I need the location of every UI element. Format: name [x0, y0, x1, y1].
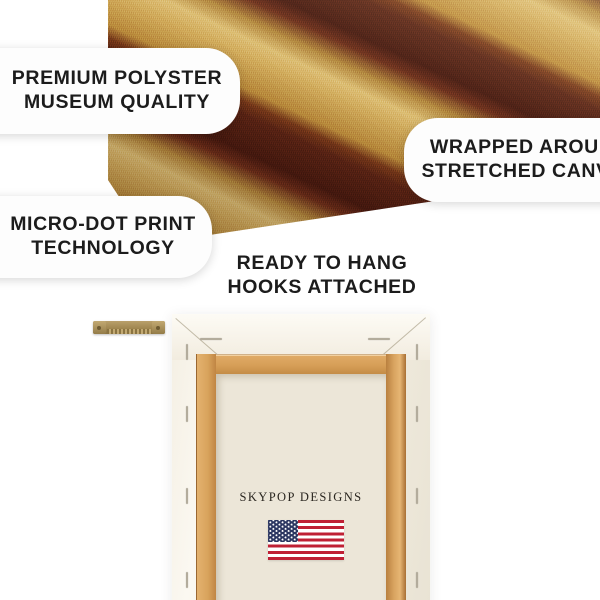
canvas-back-panel: SKYPOP DESIGNS: [172, 314, 430, 600]
feature-pill-wrapped-around-line1: WRAPPED AROUND: [430, 136, 600, 160]
feature-label-ready-to-hang-line1: READY TO HANG: [222, 252, 422, 276]
canvas-inner-backing: [216, 374, 386, 600]
staple-icon: [416, 344, 418, 360]
hanger-teeth: [107, 329, 151, 334]
us-flag-icon: [268, 520, 344, 560]
staple-icon: [416, 406, 418, 422]
feature-label-ready-to-hang: READY TO HANG HOOKS ATTACHED: [222, 252, 422, 300]
product-promo-image: PREMIUM POLYSTER MUSEUM QUALITY WRAPPED …: [0, 0, 600, 600]
stretcher-bar-top-highlight: [196, 354, 406, 356]
hanger-screw-hole-left: [97, 326, 101, 330]
feature-pill-micro-dot-print: MICRO-DOT PRINT TECHNOLOGY: [0, 196, 212, 278]
feature-pill-micro-dot-print-line1: MICRO-DOT PRINT: [10, 213, 196, 237]
staple-icon: [186, 572, 188, 588]
feature-pill-wrapped-around: WRAPPED AROUND STRETCHED CANVAS: [404, 118, 600, 202]
staple-icon: [200, 338, 222, 340]
staple-icon: [368, 338, 390, 340]
stretcher-bar-right: [386, 354, 406, 600]
hanger-screw-hole-right: [156, 326, 160, 330]
staple-icon: [186, 344, 188, 360]
stretcher-bar-left: [196, 354, 216, 600]
feature-pill-premium-polyster: PREMIUM POLYSTER MUSEUM QUALITY: [0, 48, 240, 134]
staple-icon: [416, 572, 418, 588]
feature-pill-premium-polyster-line1: PREMIUM POLYSTER: [12, 67, 222, 91]
brand-text: SKYPOP DESIGNS: [172, 490, 430, 505]
feature-label-ready-to-hang-line2: HOOKS ATTACHED: [222, 276, 422, 300]
us-flag-stars: [268, 520, 298, 542]
feature-pill-micro-dot-print-line2: TECHNOLOGY: [31, 237, 175, 261]
feature-pill-premium-polyster-line2: MUSEUM QUALITY: [24, 91, 210, 115]
feature-pill-wrapped-around-line2: STRETCHED CANVAS: [421, 160, 600, 184]
sawtooth-hanger-hardware: [93, 321, 165, 334]
staple-icon: [186, 406, 188, 422]
stretcher-bar-top: [196, 354, 406, 374]
